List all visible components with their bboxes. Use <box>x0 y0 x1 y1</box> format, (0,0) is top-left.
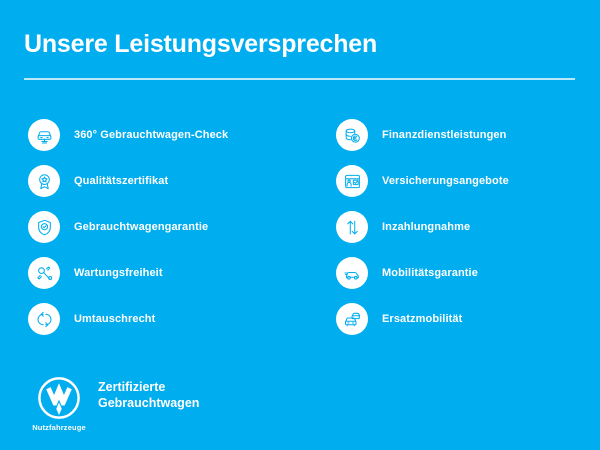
list-item[interactable]: Qualitätszertifikat <box>28 158 308 204</box>
list-item-label: Ersatzmobilität <box>382 313 462 325</box>
exchange-arrows-icon <box>28 303 60 335</box>
list-item[interactable]: Gebrauchtwagengarantie <box>28 204 308 250</box>
footer-tagline: Zertifizierte Gebrauchtwagen <box>98 379 199 411</box>
list-item[interactable]: Mobilitätsgarantie <box>336 250 600 296</box>
list-item-label: Gebrauchtwagengarantie <box>74 221 208 233</box>
promises-column-left: 360° Gebrauchtwagen-Check Qualitätszerti… <box>28 112 308 342</box>
footer-tagline-line1: Zertifizierte <box>98 379 199 395</box>
list-item-label: Umtauschrecht <box>74 313 155 325</box>
quality-seal-icon <box>28 165 60 197</box>
promises-columns: 360° Gebrauchtwagen-Check Qualitätszerti… <box>0 112 600 352</box>
vw-wordmark: Nutzfahrzeuge <box>32 423 86 432</box>
promises-poster: Unsere Leistungsversprechen 360° G <box>0 0 600 450</box>
insurance-document-icon <box>336 165 368 197</box>
replacement-cars-icon <box>336 303 368 335</box>
volkswagen-logo-icon <box>37 376 81 420</box>
promises-column-right: Finanzdienstleistungen Versicherungsange… <box>336 112 600 342</box>
list-item[interactable]: Versicherungsangebote <box>336 158 600 204</box>
list-item[interactable]: 360° Gebrauchtwagen-Check <box>28 112 308 158</box>
list-item-label: Mobilitätsgarantie <box>382 267 478 279</box>
title-divider <box>24 78 575 80</box>
shield-check-icon <box>28 211 60 243</box>
list-item[interactable]: Wartungsfreiheit <box>28 250 308 296</box>
finance-coins-icon <box>336 119 368 151</box>
list-item-label: Wartungsfreiheit <box>74 267 163 279</box>
car-check-icon <box>28 119 60 151</box>
footer-tagline-line2: Gebrauchtwagen <box>98 395 199 411</box>
list-item[interactable]: Ersatzmobilität <box>336 296 600 342</box>
wrench-tools-icon <box>28 257 60 289</box>
page-title: Unsere Leistungsversprechen <box>24 30 377 59</box>
list-item-label: Versicherungsangebote <box>382 175 509 187</box>
up-down-arrows-icon <box>336 211 368 243</box>
car-mobility-icon <box>336 257 368 289</box>
list-item[interactable]: Inzahlungnahme <box>336 204 600 250</box>
list-item-label: Qualitätszertifikat <box>74 175 168 187</box>
footer-brand-block: Nutzfahrzeuge Zertifizierte Gebrauchtwag… <box>28 376 199 432</box>
list-item-label: Finanzdienstleistungen <box>382 129 506 141</box>
list-item-label: 360° Gebrauchtwagen-Check <box>74 129 228 141</box>
list-item[interactable]: Umtauschrecht <box>28 296 308 342</box>
list-item-label: Inzahlungnahme <box>382 221 470 233</box>
vw-logo-block: Nutzfahrzeuge <box>28 376 90 432</box>
list-item[interactable]: Finanzdienstleistungen <box>336 112 600 158</box>
